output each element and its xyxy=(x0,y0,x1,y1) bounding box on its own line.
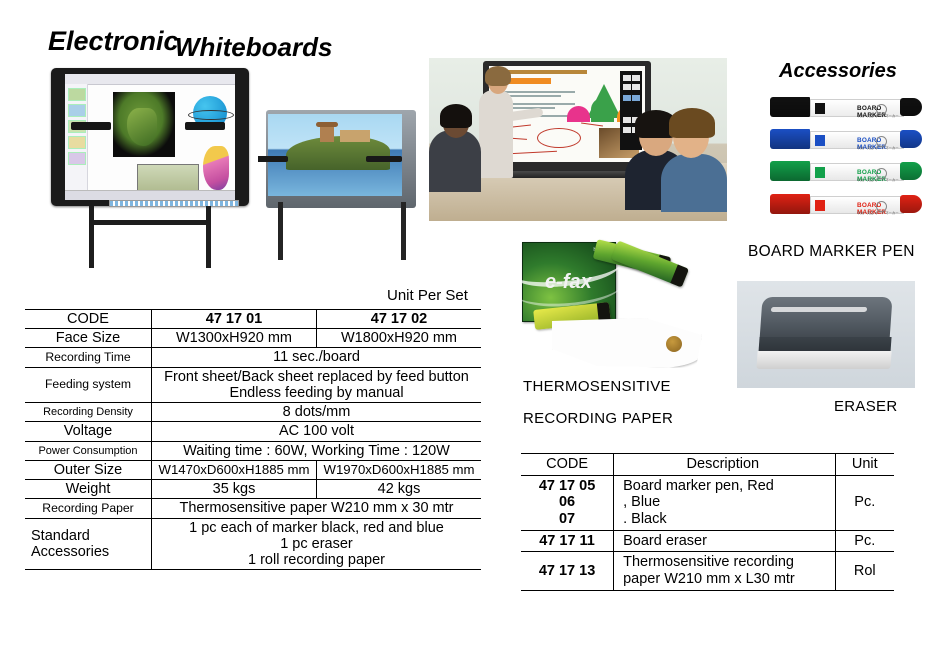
conf-ink-scribble xyxy=(581,122,603,126)
accessories-table: CODE Description Unit 47 17 050607 Board… xyxy=(521,453,894,591)
caption-thermosensitive-line1: THERMOSENSITIVE xyxy=(523,378,671,395)
spec-value-span: 1 pc each of marker black, red and blue1… xyxy=(152,518,482,570)
attendee-right-2-hair xyxy=(669,108,715,138)
wb1-stand xyxy=(89,206,211,268)
spec-value-span: Thermosensitive paper W210 mm x 30 mtr xyxy=(152,499,482,518)
table-row-recording-time: Recording Time 11 sec./board xyxy=(25,348,481,367)
wb1-map-graphic xyxy=(113,92,175,157)
wb2-pagoda-graphic xyxy=(320,126,334,142)
conf-side-button xyxy=(623,75,631,81)
marker-logo-icon xyxy=(876,104,887,115)
spec-label: Power Consumption xyxy=(25,441,152,460)
conf-side-button xyxy=(623,117,631,123)
marker-body: BOARD MARKER 中太・丸芯 ボードマーカー xyxy=(810,131,904,149)
marker-body: BOARD MARKER 中太・丸芯 ボードマーカー xyxy=(810,99,904,117)
marker-pen-black: BOARD MARKER 中太・丸芯 ボードマーカー xyxy=(770,96,922,118)
thermo-paper-core xyxy=(666,336,682,352)
spec-value-col1: W1470xD600xH1885 mm xyxy=(152,460,317,479)
wb1-thumb xyxy=(68,152,86,165)
marker-body: BOARD MARKER 中太・丸芯 ボードマーカー xyxy=(810,163,904,181)
acc-header-unit: Unit xyxy=(835,454,894,476)
marker-tail xyxy=(900,130,922,148)
acc-header-description: Description xyxy=(614,454,835,476)
marker-logo-icon xyxy=(876,168,887,179)
table-row-standard-accessories: StandardAccessories 1 pc each of marker … xyxy=(25,518,481,570)
attendee-left-body xyxy=(429,130,481,192)
presenter-hair xyxy=(485,66,511,86)
table-header-row: CODE Description Unit xyxy=(521,454,894,476)
spec-label: Face Size xyxy=(25,329,152,348)
spec-label: CODE xyxy=(25,310,152,329)
wb2-foot-left xyxy=(258,156,288,162)
spec-value-col2: W1970xD600xH1885 mm xyxy=(317,460,482,479)
attendee-right-2-body xyxy=(661,154,727,212)
spec-value-span: Front sheet/Back sheet replaced by feed … xyxy=(152,367,482,402)
attendee-left-hair xyxy=(440,104,472,128)
whiteboard-photo-image xyxy=(258,106,433,284)
unit-per-set-label: Unit Per Set xyxy=(387,287,468,304)
marker-logo-icon xyxy=(876,136,887,147)
marker-blocklogo xyxy=(815,167,825,178)
spec-value-col2: 42 kgs xyxy=(317,480,482,499)
specification-table: CODE 47 17 01 47 17 02 Face Size W1300xH… xyxy=(25,309,481,570)
wb1-screen xyxy=(65,74,235,200)
page-title-electronic: Electronic xyxy=(48,26,179,57)
conf-slide-text xyxy=(503,95,561,97)
marker-cap xyxy=(770,129,810,149)
marker-blocklogo xyxy=(815,103,825,114)
spec-label: Recording Density xyxy=(25,403,152,422)
wb1-figure-graphic xyxy=(203,146,229,190)
spec-label: Feeding system xyxy=(25,367,152,402)
thermosensitive-paper-image: e-fax Hansol xyxy=(516,234,714,371)
marker-cap xyxy=(770,97,810,117)
eraser-gloss-highlight xyxy=(771,307,868,312)
wb1-thumb xyxy=(68,104,86,117)
wb1-thumb xyxy=(68,136,86,149)
spec-value-span: 8 dots/mm xyxy=(152,403,482,422)
acc-description: Board eraser xyxy=(614,530,835,552)
conf-side-button xyxy=(623,95,631,101)
acc-code: 47 17 11 xyxy=(521,530,614,552)
table-row: 47 17 11 Board eraser Pc. xyxy=(521,530,894,552)
table-row-outer-size: Outer Size W1470xD600xH1885 mm W1970xD60… xyxy=(25,460,481,479)
conf-side-button xyxy=(623,84,631,90)
spec-value-span: AC 100 volt xyxy=(152,422,482,441)
wb1-status-bar xyxy=(65,190,235,200)
acc-description: Board marker pen, Red, Blue. Black xyxy=(614,475,835,530)
conf-ink-ellipse xyxy=(537,128,581,148)
wb1-foot-right xyxy=(185,122,225,130)
spec-label: Outer Size xyxy=(25,460,152,479)
table-row-recording-paper: Recording Paper Thermosensitive paper W2… xyxy=(25,499,481,518)
conf-side-button xyxy=(632,75,640,81)
section-title-accessories: Accessories xyxy=(779,60,897,83)
wb1-left-pane xyxy=(65,84,88,191)
page-title-whiteboards: Whiteboards xyxy=(175,32,332,63)
eraser-felt-pad xyxy=(756,351,891,369)
conf-slide-text xyxy=(503,91,575,93)
wb1-foot-left xyxy=(71,122,111,130)
wb2-screen xyxy=(268,114,402,196)
conf-board-ledge xyxy=(497,171,637,178)
wb2-foot-right xyxy=(366,156,402,162)
conf-dome-graphic xyxy=(567,106,590,122)
table-row-voltage: Voltage AC 100 volt xyxy=(25,422,481,441)
table-row-power-consumption: Power Consumption Waiting time : 60W, Wo… xyxy=(25,441,481,460)
caption-thermosensitive-line2: RECORDING PAPER xyxy=(523,410,673,427)
conf-slide-text xyxy=(503,103,575,105)
wb1-thumb xyxy=(68,88,86,101)
wb2-stand xyxy=(272,208,412,264)
eraser-image xyxy=(737,281,915,388)
acc-unit: Pc. xyxy=(835,475,894,530)
conference-room-image xyxy=(429,58,727,221)
spec-value-col2: W1800xH920 mm xyxy=(317,329,482,348)
table-row-weight: Weight 35 kgs 42 kgs xyxy=(25,480,481,499)
acc-code: 47 17 13 xyxy=(521,552,614,590)
marker-cap xyxy=(770,194,810,214)
conf-side-button xyxy=(632,84,640,90)
spec-value-col2: 47 17 02 xyxy=(317,310,482,329)
caption-board-marker-pen: BOARD MARKER PEN xyxy=(748,243,915,261)
conf-ink-scribble xyxy=(509,151,557,155)
marker-logo-icon xyxy=(876,201,887,212)
eraser-top-shell xyxy=(759,297,892,341)
table-row-recording-density: Recording Density 8 dots/mm xyxy=(25,403,481,422)
thermo-roll xyxy=(611,240,689,287)
marker-pen-blue: BOARD MARKER 中太・丸芯 ボードマーカー xyxy=(770,128,922,150)
spec-value-span: Waiting time : 60W, Working Time : 120W xyxy=(152,441,482,460)
marker-blocklogo xyxy=(815,200,825,211)
table-row-face-size: Face Size W1300xH920 mm W1800xH920 mm xyxy=(25,329,481,348)
wb2-wall-graphic xyxy=(340,130,370,142)
table-row: 47 17 13 Thermosensitive recordingpaper … xyxy=(521,552,894,590)
marker-tail xyxy=(900,98,922,116)
marker-pen-red: BOARD MARKER 中太・丸芯 ボードマーカー xyxy=(770,193,922,215)
acc-unit: Pc. xyxy=(835,530,894,552)
conf-dome-graphic xyxy=(591,98,614,122)
conf-side-button xyxy=(632,95,640,101)
marker-blocklogo xyxy=(815,135,825,146)
table-row-feeding-system: Feeding system Front sheet/Back sheet re… xyxy=(25,367,481,402)
catalog-page: Electronic Whiteboards Accessories Unit … xyxy=(0,0,952,665)
table-row: 47 17 050607 Board marker pen, Red, Blue… xyxy=(521,475,894,530)
conf-side-button xyxy=(623,127,631,133)
marker-body: BOARD MARKER 中太・丸芯 ボードマーカー xyxy=(810,196,904,214)
spec-label: Weight xyxy=(25,480,152,499)
marker-tail xyxy=(900,162,922,180)
wb1-frame xyxy=(51,68,249,206)
spec-label: StandardAccessories xyxy=(25,518,152,570)
spec-value-col1: 47 17 01 xyxy=(152,310,317,329)
thermo-roll-tip xyxy=(670,264,689,287)
spec-label: Voltage xyxy=(25,422,152,441)
spec-value-col1: 35 kgs xyxy=(152,480,317,499)
marker-cap xyxy=(770,161,810,181)
table-row-code: CODE 47 17 01 47 17 02 xyxy=(25,310,481,329)
wb2-hill-graphic xyxy=(286,136,390,170)
caption-eraser: ERASER xyxy=(834,398,898,415)
acc-code: 47 17 050607 xyxy=(521,475,614,530)
acc-unit: Rol xyxy=(835,552,894,590)
spec-label: Recording Paper xyxy=(25,499,152,518)
spec-value-span: 11 sec./board xyxy=(152,348,482,367)
spec-label: Recording Time xyxy=(25,348,152,367)
spec-value-col1: W1300xH920 mm xyxy=(152,329,317,348)
thermo-box-logo: e-fax xyxy=(545,271,592,294)
wb1-toolbar xyxy=(65,74,235,85)
marker-pen-green: BOARD MARKER 中太・丸芯 ボードマーカー xyxy=(770,160,922,182)
acc-header-code: CODE xyxy=(521,454,614,476)
whiteboard-map-image xyxy=(43,62,258,284)
presenter-body xyxy=(479,90,513,178)
marker-tail xyxy=(900,195,922,213)
wb1-crossbar xyxy=(89,220,211,225)
acc-description: Thermosensitive recordingpaper W210 mm x… xyxy=(614,552,835,590)
